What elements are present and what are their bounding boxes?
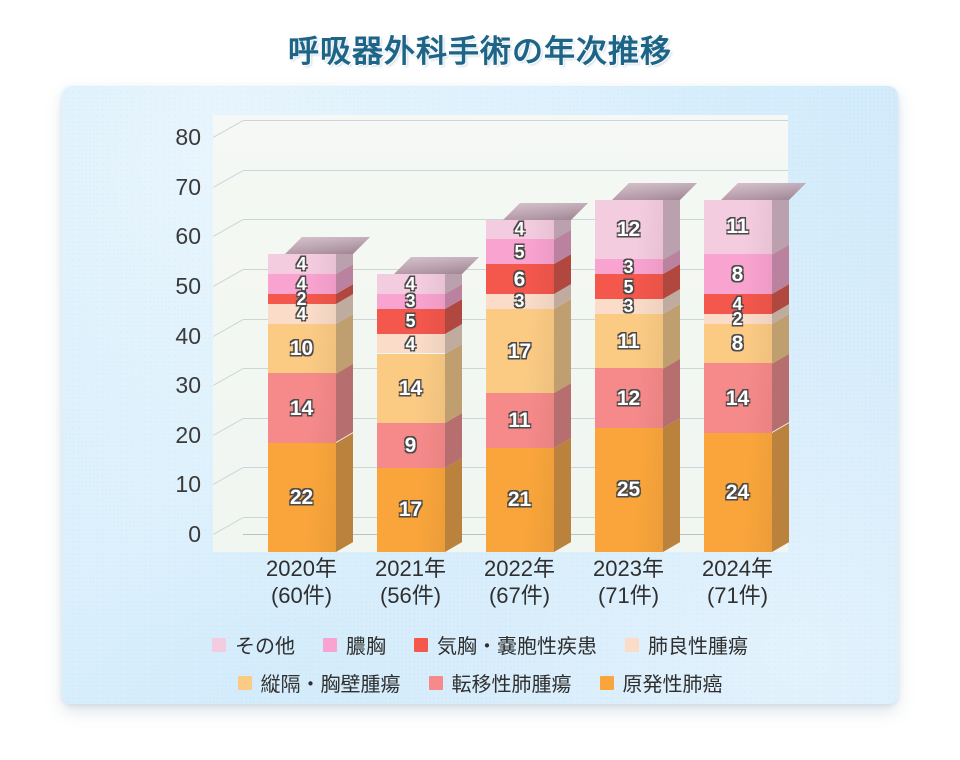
bar-segment[interactable]: 4 (486, 220, 554, 240)
legend-label: 転移性肺腫瘍 (452, 668, 572, 697)
segment-side-face (772, 423, 789, 552)
bar-segment[interactable]: 5 (595, 274, 663, 299)
segment-value-label: 5 (405, 312, 415, 330)
y-tick-label: 40 (141, 323, 201, 350)
segment-side-face (663, 304, 680, 368)
segment-value-label: 25 (617, 479, 640, 500)
bar-segment[interactable]: 5 (377, 309, 445, 334)
page-title: 呼吸器外科手術の年次推移 (0, 26, 960, 71)
bar-segment[interactable]: 17 (486, 309, 554, 393)
bar-column[interactable]: 2111173654 (486, 133, 554, 552)
legend-swatch-icon (600, 676, 614, 690)
legend-row-2: 縦隔・胸壁腫瘍転移性肺腫瘍原発性肺癌 (62, 668, 898, 697)
segment-value-label: 3 (514, 292, 524, 310)
segment-value-label: 22 (290, 487, 313, 508)
bar-segment[interactable]: 12 (595, 368, 663, 428)
segment-side-face (445, 458, 462, 552)
segment-value-label: 4 (405, 335, 415, 353)
bar-segment[interactable]: 25 (595, 428, 663, 552)
segment-value-label: 5 (623, 278, 633, 296)
segment-value-label: 11 (617, 331, 639, 352)
segment-side-face (663, 418, 680, 552)
bar-segment[interactable]: 4 (377, 274, 445, 294)
bar-column[interactable]: 2414824811 (704, 133, 772, 552)
bar-top-face (285, 237, 370, 254)
legend-label: 原発性肺癌 (623, 668, 723, 697)
bar-segment[interactable]: 14 (377, 354, 445, 423)
bar-segment[interactable]: 11 (704, 200, 772, 255)
bar-segment[interactable]: 3 (486, 294, 554, 309)
plot-area: 2214104244179144534211117365425121135312… (213, 115, 788, 552)
y-tick-label: 0 (141, 521, 201, 548)
bar-segment[interactable]: 5 (486, 239, 554, 264)
legend-item[interactable]: 原発性肺癌 (600, 668, 723, 697)
bar-group: 2214104244179144534211117365425121135312… (243, 115, 788, 552)
bar-segment[interactable]: 8 (704, 324, 772, 364)
legend-label: 膿胸 (346, 630, 386, 659)
y-tick-label: 80 (141, 124, 201, 151)
bar-segment[interactable]: 11 (486, 393, 554, 448)
segment-value-label: 5 (514, 243, 524, 261)
bar-top-face (503, 203, 588, 220)
x-tick-year: 2024年 (673, 556, 803, 583)
segment-value-label: 21 (508, 489, 531, 510)
y-tick-label: 30 (141, 372, 201, 399)
legend-item[interactable]: 肺良性腫瘍 (625, 630, 748, 659)
bar-segment[interactable]: 21 (486, 448, 554, 552)
segment-value-label: 9 (405, 435, 417, 456)
bar-segment[interactable]: 10 (268, 324, 336, 374)
segment-value-label: 17 (508, 341, 531, 362)
segment-side-face (554, 299, 571, 393)
y-tick-label: 50 (141, 273, 201, 300)
bar-column[interactable]: 2214104244 (268, 133, 336, 552)
segment-side-face (554, 438, 571, 552)
segment-side-face (445, 344, 462, 423)
bar-segment[interactable]: 22 (268, 443, 336, 552)
segment-side-face (336, 314, 353, 373)
y-tick-label: 60 (141, 223, 201, 250)
segment-value-label: 3 (623, 258, 633, 276)
segment-value-label: 11 (726, 216, 748, 237)
x-tick-total: (71件) (673, 583, 803, 610)
chart-legend: その他膿胸気胸・嚢胞性疾患肺良性腫瘍 縦隔・胸壁腫瘍転移性肺腫瘍原発性肺癌 (62, 630, 898, 706)
segment-side-face (554, 383, 571, 447)
segment-value-label: 6 (514, 269, 526, 290)
segment-side-face (663, 359, 680, 428)
segment-value-label: 14 (399, 378, 422, 399)
legend-item[interactable]: 気胸・嚢胞性疾患 (414, 630, 597, 659)
bar-segment[interactable]: 9 (377, 423, 445, 468)
bar-segment[interactable]: 14 (704, 363, 772, 432)
bar-segment[interactable]: 2 (268, 294, 336, 304)
legend-item[interactable]: 縦隔・胸壁腫瘍 (238, 668, 401, 697)
segment-value-label: 14 (726, 388, 749, 409)
segment-value-label: 4 (514, 220, 524, 238)
legend-swatch-icon (238, 676, 252, 690)
legend-swatch-icon (429, 676, 443, 690)
segment-side-face (336, 433, 353, 552)
legend-swatch-icon (323, 638, 337, 652)
legend-label: 肺良性腫瘍 (648, 630, 748, 659)
segment-value-label: 10 (290, 338, 313, 359)
segment-value-label: 4 (732, 295, 742, 313)
segment-value-label: 24 (726, 482, 749, 503)
bar-segment[interactable]: 3 (595, 299, 663, 314)
segment-value-label: 8 (732, 264, 744, 285)
legend-row-1: その他膿胸気胸・嚢胞性疾患肺良性腫瘍 (62, 630, 898, 659)
segment-value-label: 3 (623, 297, 633, 315)
bar-segment[interactable]: 3 (595, 259, 663, 274)
legend-item[interactable]: 転移性肺腫瘍 (429, 668, 572, 697)
y-tick-label: 20 (141, 422, 201, 449)
bar-segment[interactable]: 24 (704, 433, 772, 552)
segment-value-label: 4 (405, 275, 415, 293)
segment-value-label: 8 (732, 333, 744, 354)
bar-segment[interactable]: 4 (268, 274, 336, 294)
legend-label: その他 (235, 630, 295, 659)
bar-segment[interactable]: 3 (377, 294, 445, 309)
bar-segment[interactable]: 14 (268, 373, 336, 442)
legend-swatch-icon (625, 638, 639, 652)
bar-segment[interactable]: 4 (268, 254, 336, 274)
legend-label: 気胸・嚢胞性疾患 (437, 630, 597, 659)
legend-swatch-icon (414, 638, 428, 652)
bar-segment[interactable]: 4 (704, 294, 772, 314)
segment-side-face (772, 354, 789, 433)
segment-side-face (336, 364, 353, 443)
bar-segment[interactable]: 2 (704, 314, 772, 324)
segment-value-label: 3 (405, 292, 415, 310)
y-tick-label: 10 (141, 471, 201, 498)
segment-side-face (663, 190, 680, 259)
x-axis: 2020年(60件)2021年(56件)2022年(67件)2023年(71件)… (213, 556, 788, 616)
chart-page: 呼吸器外科手術の年次推移 80706050403020100 221410424… (0, 0, 960, 760)
x-tick-label: 2024年(71件) (673, 556, 803, 610)
bar-top-face (394, 257, 479, 274)
y-tick-label: 70 (141, 174, 201, 201)
legend-label: 縦隔・胸壁腫瘍 (261, 668, 401, 697)
bar-segment[interactable]: 11 (595, 314, 663, 369)
legend-item[interactable]: 膿胸 (323, 630, 386, 659)
bar-segment[interactable]: 6 (486, 264, 554, 294)
segment-value-label: 17 (399, 499, 422, 520)
bar-segment[interactable]: 12 (595, 200, 663, 260)
legend-item[interactable]: その他 (212, 630, 295, 659)
bar-column[interactable]: 179144534 (377, 133, 445, 552)
bar-segment[interactable]: 8 (704, 254, 772, 294)
bar-column[interactable]: 25121135312 (595, 133, 663, 552)
segment-value-label: 12 (617, 388, 640, 409)
segment-value-label: 4 (296, 255, 306, 273)
bar-segment[interactable]: 17 (377, 468, 445, 552)
bar-segment[interactable]: 4 (377, 334, 445, 354)
segment-value-label: 11 (508, 410, 530, 431)
segment-value-label: 14 (290, 398, 313, 419)
segment-value-label: 4 (296, 275, 306, 293)
legend-swatch-icon (212, 638, 226, 652)
bar-top-face (612, 183, 697, 200)
segment-value-label: 12 (617, 219, 640, 240)
